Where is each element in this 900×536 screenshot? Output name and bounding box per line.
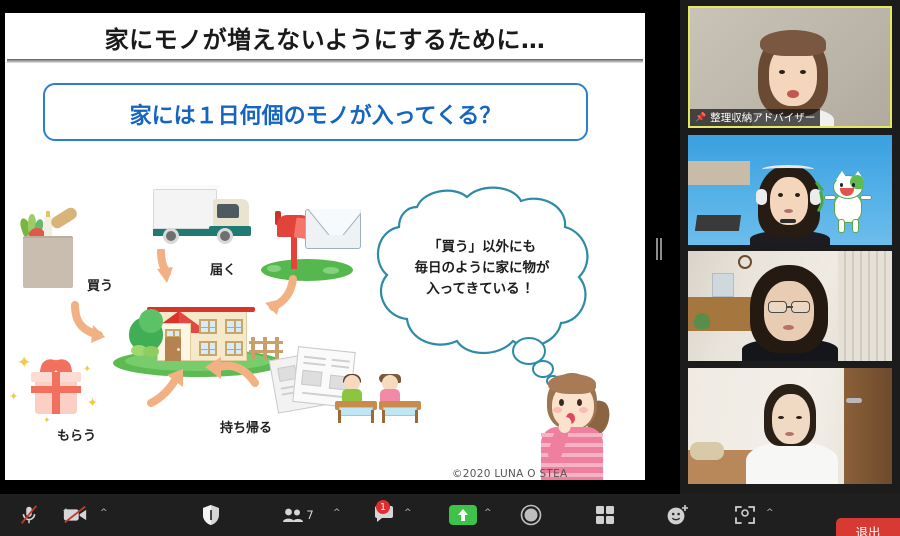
video-tile-2[interactable] [688, 135, 892, 245]
sparkle-icon: ✦ [43, 417, 51, 426]
microphone-muted-icon [18, 504, 40, 526]
girl-thinking-illustration [533, 371, 619, 480]
video-button[interactable] [52, 494, 98, 536]
thought-bubble: 「買う」以外にも 毎日のように家に物が 入ってきている ！ [357, 185, 607, 385]
share-screen-button[interactable] [440, 494, 486, 536]
record-circle-icon [520, 504, 542, 526]
slide-title: 家にモノが増えないようにするために… [5, 20, 645, 55]
label-deliver: 届く [210, 259, 236, 278]
video-tile-1[interactable]: 📌 整理収納アドバイザー [688, 6, 892, 128]
participants-icon [282, 507, 304, 523]
participant-name-label: 📌 整理収納アドバイザー [690, 109, 820, 126]
video-tile-3[interactable] [688, 251, 892, 361]
video-feed [688, 368, 892, 484]
pin-icon: 📌 [695, 113, 706, 123]
slide-title-bar: 家にモノが増えないようにするために… [5, 13, 645, 60]
arrow-buy-to-house [65, 301, 111, 350]
shield-icon [201, 504, 221, 526]
sparkle-icon: ✦ [83, 365, 91, 375]
apps-button[interactable] [582, 494, 628, 536]
video-options-caret-icon[interactable]: ^ [100, 508, 108, 518]
participants-options-caret-icon[interactable]: ^ [333, 508, 341, 518]
filmstrip-drag-handle[interactable] [656, 238, 662, 260]
participants-button[interactable]: 7 [272, 494, 324, 536]
apps-grid-icon [595, 505, 615, 525]
share-options-caret-icon[interactable]: ^ [484, 508, 492, 518]
zoom-meeting-window: 家にモノが増えないようにするために… 家には１日何個のモノが入ってくる？ 買う … [0, 0, 900, 536]
video-tile-4[interactable] [688, 368, 892, 484]
label-receive: もらう [57, 425, 96, 444]
label-bring-home: 持ち帰る [220, 417, 272, 436]
delivery-truck-icon [153, 185, 258, 251]
reactions-smiley-plus-icon [666, 504, 690, 526]
sparkle-icon: ✦ [17, 355, 31, 372]
security-button[interactable] [188, 494, 234, 536]
chat-options-caret-icon[interactable]: ^ [404, 508, 412, 518]
reactions-button[interactable] [655, 494, 701, 536]
mic-button[interactable] [6, 494, 52, 536]
meeting-toolbar: ^ ^ 7 ^ [0, 494, 900, 536]
copyright-notice: ©2020 LUNA O STEA [452, 468, 568, 480]
label-buy: 買う [87, 275, 113, 294]
focus-options-caret-icon[interactable]: ^ [766, 508, 774, 518]
arrow-truck-to-house [153, 249, 189, 292]
focus-mode-button[interactable] [722, 494, 768, 536]
participants-count: 7 [306, 508, 313, 522]
thought-bubble-text: 「買う」以外にも 毎日のように家に物が 入ってきている ！ [379, 237, 585, 300]
video-feed [688, 135, 892, 245]
participant-name: 整理収納アドバイザー [710, 110, 815, 125]
sparkle-icon: ✦ [87, 397, 98, 410]
envelope-icon [305, 209, 361, 249]
sparkle-icon: ✦ [9, 391, 18, 402]
gift-box-icon [25, 358, 85, 420]
shared-screen-stage[interactable]: 家にモノが増えないようにするために… 家には１日何個のモノが入ってくる？ 買う … [0, 0, 680, 494]
share-screen-up-arrow-icon [449, 505, 477, 525]
record-button[interactable] [508, 494, 554, 536]
question-text: 家には１日何個のモノが入ってくる？ [45, 98, 586, 130]
leave-meeting-button[interactable]: 退出 [836, 518, 900, 536]
video-feed [688, 251, 892, 361]
participant-filmstrip: 📌 整理収納アドバイザー [680, 0, 900, 494]
video-camera-muted-icon [62, 504, 88, 526]
focus-frame-icon [734, 505, 756, 525]
arrow-gift-to-house [145, 365, 189, 412]
cat-mascot-icon [826, 173, 872, 235]
title-divider-rule [7, 59, 643, 63]
arrow-bringhome-to-house [201, 353, 263, 402]
question-callout-box: 家には１日何個のモノが入ってくる？ [43, 83, 588, 141]
presentation-slide: 家にモノが増えないようにするために… 家には１日何個のモノが入ってくる？ 買う … [5, 13, 645, 480]
arrow-mail-to-house [257, 275, 301, 322]
chat-button[interactable]: 1 [362, 494, 406, 536]
chat-unread-badge: 1 [376, 500, 390, 514]
grocery-bag-icon [17, 210, 79, 288]
